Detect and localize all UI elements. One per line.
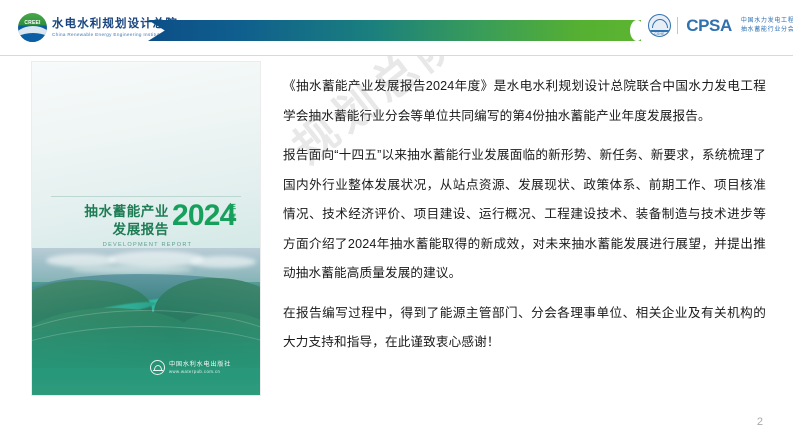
cpsa-emblem-icon: CSHE (648, 14, 671, 37)
cover-publisher-url: www.waterpub.com.cn (169, 369, 231, 375)
paragraph-1: 《抽水蓄能产业发展报告2024年度》是水电水利规划设计总院联合中国水力发电工程学… (283, 72, 766, 131)
header-banner-notch (630, 20, 644, 41)
slide-page: CREEI 水电水利规划设计总院 China Renewable Energy … (0, 0, 793, 446)
cover-year-suffix-line2: 度 (228, 213, 236, 223)
header-gradient-banner (148, 20, 641, 41)
report-cover-image: 抽水蓄能产业 发展报告 2024 年 度 DEVELOPMENT REPORT … (32, 62, 260, 395)
cover-publisher-lockup: 中国水利水电出版社 www.waterpub.com.cn (150, 360, 231, 375)
cover-year-suffix-line1: 年 (228, 203, 236, 213)
cpsa-divider (677, 17, 678, 34)
cpsa-name-line1: 中国水力发电工程学会 (741, 17, 793, 26)
cpsa-name-cn: 中国水力发电工程学会 抽水蓄能行业分会 (741, 17, 793, 34)
slide-header: CREEI 水电水利规划设计总院 China Renewable Energy … (0, 0, 793, 56)
body-text-column: 《抽水蓄能产业发展报告2024年度》是水电水利规划设计总院联合中国水力发电工程学… (283, 72, 766, 358)
cpsa-emblem-arc (652, 19, 668, 28)
cover-rule-top (51, 196, 241, 197)
cover-title-line2: 发展报告 (54, 221, 169, 239)
cover-title-line1: 抽水蓄能产业 (54, 203, 169, 221)
cover-year-suffix: 年 度 (228, 203, 236, 223)
page-number: 2 (757, 416, 763, 428)
creei-emblem-wave-dark (18, 33, 47, 42)
paragraph-2: 报告面向“十四五”以来抽水蓄能行业发展面临的新形势、新任务、新要求，系统梳理了国… (283, 141, 766, 289)
cover-landscape-photo: 中国水利水电出版社 www.waterpub.com.cn (32, 248, 260, 395)
cover-publisher-name: 中国水利水电出版社 (169, 361, 231, 369)
cpsa-acronym: CPSA (686, 16, 732, 35)
cover-year: 2024 (172, 200, 236, 232)
cover-title: 抽水蓄能产业 发展报告 (54, 203, 169, 239)
cover-publisher-text: 中国水利水电出版社 www.waterpub.com.cn (169, 361, 231, 375)
publisher-emblem-icon (150, 360, 165, 375)
publisher-emblem-bar (153, 370, 163, 371)
cpsa-name-line2: 抽水蓄能行业分会 (741, 26, 793, 35)
cpsa-emblem-text: CSHE (649, 32, 670, 36)
cpsa-logo-lockup: CSHE CPSA 中国水力发电工程学会 抽水蓄能行业分会 (648, 14, 793, 37)
paragraph-3: 在报告编写过程中，得到了能源主管部门、分会各理事单位、相关企业及有关机构的大力支… (283, 299, 766, 358)
header-divider (0, 55, 793, 56)
creei-emblem-icon: CREEI (18, 13, 47, 42)
